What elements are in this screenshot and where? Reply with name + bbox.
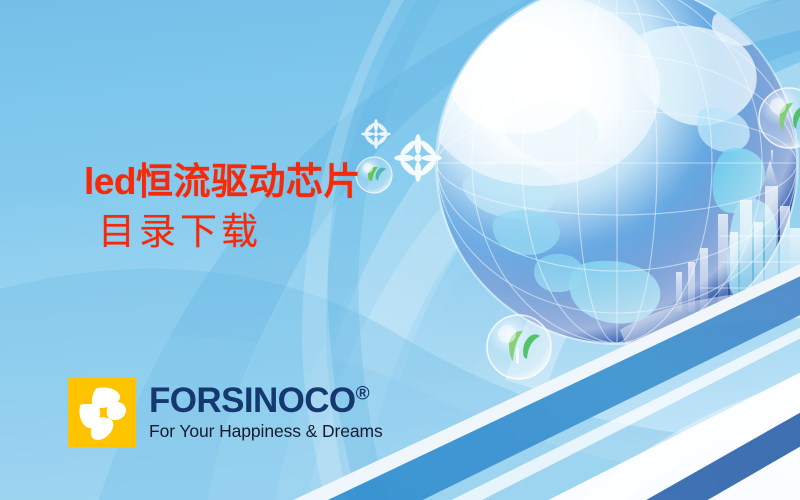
headline-line-1-cjk: 恒流驱动芯片	[136, 162, 361, 203]
sparkle-flower-icon	[361, 119, 391, 149]
headline-line-2: 目录下载	[98, 211, 504, 255]
eco-bubble-icon	[487, 315, 551, 379]
logo-brand-word: FORSINOCO	[149, 381, 356, 420]
eco-bubble-icon	[759, 88, 800, 148]
logo-mark	[68, 378, 136, 447]
logo-tagline: For Your Happiness & Dreams	[149, 421, 383, 442]
slide-headline: led恒流驱动芯片 目录下载	[84, 160, 504, 254]
slide-canvas: led恒流驱动芯片 目录下载 FORSINOCO® For Your Happi…	[0, 0, 800, 500]
headline-line-1: led恒流驱动芯片	[84, 160, 504, 205]
headline-line-1-latin: led	[84, 161, 136, 202]
logo-brand-name: FORSINOCO®	[149, 383, 383, 418]
forsinoco-logo: FORSINOCO® For Your Happiness & Dreams	[68, 378, 383, 447]
logo-text: FORSINOCO® For Your Happiness & Dreams	[149, 383, 383, 442]
registered-trademark-icon: ®	[356, 383, 370, 404]
pinwheel-flower-icon	[68, 378, 136, 447]
